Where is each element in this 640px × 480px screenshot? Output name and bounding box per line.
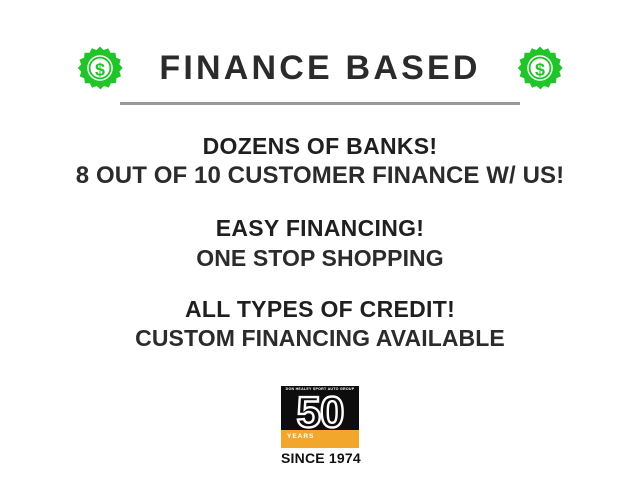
logo-mark: DON HEALEY SPORT AUTO GROUP 50 50 YEARS — [281, 386, 359, 448]
copy-heading: ALL TYPES OF CREDIT! — [0, 295, 640, 324]
header-divider — [120, 102, 520, 105]
gear-dollar-icon: $ — [77, 45, 123, 91]
logo-years-label: YEARS — [287, 434, 314, 441]
svg-text:$: $ — [535, 60, 545, 80]
header-row: $ FINANCE BASED $ — [0, 38, 640, 98]
copy-subheading: CUSTOM FINANCING AVAILABLE — [0, 324, 640, 353]
body-copy: DOZENS OF BANKS! 8 OUT OF 10 CUSTOMER FI… — [0, 132, 640, 354]
dealer-logo: DON HEALEY SPORT AUTO GROUP 50 50 YEARS … — [281, 386, 359, 465]
copy-group-credit: ALL TYPES OF CREDIT! CUSTOM FINANCING AV… — [0, 295, 640, 354]
finance-based-slide: $ FINANCE BASED $ DOZENS OF BANKS! 8 OUT… — [0, 0, 640, 480]
logo-since-label: SINCE 1974 — [281, 451, 359, 465]
copy-heading: EASY FINANCING! — [0, 214, 640, 243]
copy-group-banks: DOZENS OF BANKS! 8 OUT OF 10 CUSTOMER FI… — [0, 132, 640, 192]
copy-subheading: ONE STOP SHOPPING — [0, 244, 640, 273]
page-title: FINANCE BASED — [159, 51, 480, 85]
copy-heading: DOZENS OF BANKS! — [0, 132, 640, 161]
gear-dollar-icon: $ — [517, 45, 563, 91]
logo-numeral: 50 — [281, 391, 359, 435]
copy-subheading: 8 OUT OF 10 CUSTOMER FINANCE W/ US! — [0, 161, 640, 192]
copy-group-financing: EASY FINANCING! ONE STOP SHOPPING — [0, 214, 640, 273]
svg-text:$: $ — [95, 60, 105, 80]
header: $ FINANCE BASED $ — [0, 38, 640, 120]
